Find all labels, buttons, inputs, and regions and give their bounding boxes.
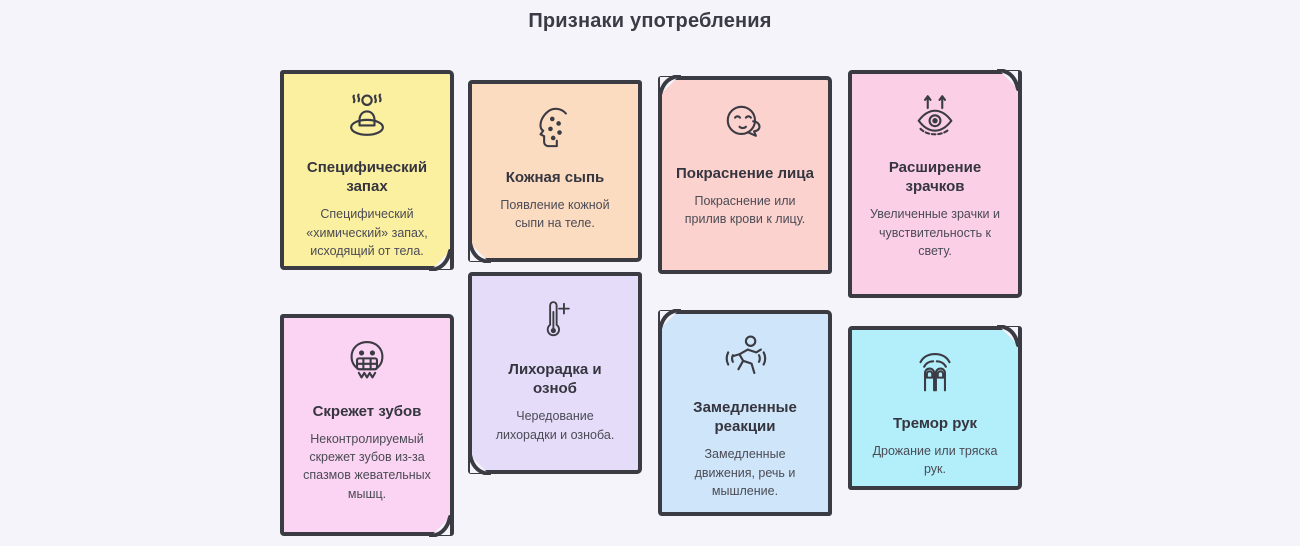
dilated-eye-icon: [903, 88, 967, 148]
card-description: Появление кожной сыпи на теле.: [486, 196, 624, 232]
card-corner-fold-icon: [467, 453, 493, 475]
page-title: Признаки употребления: [0, 10, 1300, 33]
card-corner-fold-icon: [429, 249, 455, 271]
card-description: Дрожание или тряска рук.: [866, 442, 1004, 478]
head-rash-icon: [523, 98, 587, 158]
card-description: Неконтролируемый скрежет зубов из-за спа…: [298, 430, 436, 503]
card-corner-fold-icon: [657, 309, 683, 331]
card-corner-fold-icon: [997, 325, 1023, 347]
card-title: Покраснение лица: [676, 164, 814, 183]
card-title: Скрежет зубов: [313, 402, 422, 421]
flushed-face-icon: [713, 94, 777, 154]
card-specific-smell[interactable]: Специфический запахСпецифический «химиче…: [280, 70, 454, 270]
card-teeth-grinding[interactable]: Скрежет зубовНеконтролируемый скрежет зу…: [280, 314, 454, 536]
card-corner-fold-icon: [657, 75, 683, 97]
card-corner-fold-icon: [997, 69, 1023, 91]
card-description: Чередование лихорадки и озноба.: [486, 407, 624, 443]
card-description: Покраснение или прилив крови к лицу.: [676, 192, 814, 228]
smell-person-icon: [335, 88, 399, 148]
card-description: Замедленные движения, речь и мышление.: [676, 445, 814, 499]
card-title: Лихорадка и озноб: [486, 360, 624, 398]
infographic-page: Признаки употребления Специфический запа…: [0, 0, 1300, 546]
card-fever-chills[interactable]: Лихорадка и ознобЧередование лихорадки и…: [468, 272, 642, 474]
cards-board: Специфический запахСпецифический «химиче…: [272, 62, 1042, 542]
tremor-hands-icon: [903, 344, 967, 404]
card-corner-fold-icon: [467, 241, 493, 263]
card-slowed-reactions[interactable]: Замедленные реакцииЗамедленные движения,…: [658, 310, 832, 516]
card-description: Увеличенные зрачки и чувствительность к …: [866, 205, 1004, 259]
card-title: Кожная сыпь: [506, 168, 605, 187]
card-description: Специфический «химический» запах, исходя…: [298, 205, 436, 259]
card-title: Тремор рук: [893, 414, 977, 433]
card-skin-rash[interactable]: Кожная сыпьПоявление кожной сыпи на теле…: [468, 80, 642, 262]
card-corner-fold-icon: [429, 515, 455, 537]
card-title: Специфический запах: [298, 158, 436, 196]
card-title: Расширение зрачков: [866, 158, 1004, 196]
card-dilated-pupils[interactable]: Расширение зрачковУвеличенные зрачки и ч…: [848, 70, 1022, 298]
thermometer-icon: [523, 290, 587, 350]
grinding-teeth-icon: [335, 332, 399, 392]
card-hand-tremor[interactable]: Тремор рукДрожание или тряска рук.: [848, 326, 1022, 490]
card-title: Замедленные реакции: [676, 398, 814, 436]
running-person-icon: [713, 328, 777, 388]
card-facial-flushing[interactable]: Покраснение лицаПокраснение или прилив к…: [658, 76, 832, 274]
